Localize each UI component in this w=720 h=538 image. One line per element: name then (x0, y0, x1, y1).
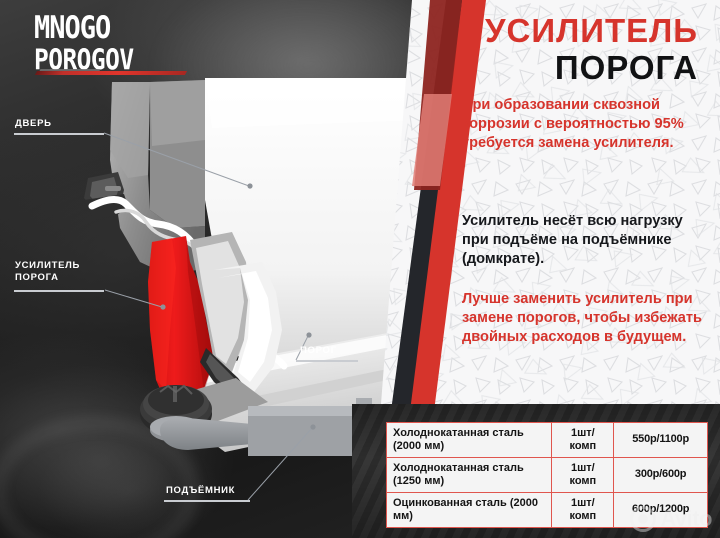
avito-watermark: Avito (630, 506, 712, 532)
callout-reinforcer-line1: УСИЛИТЕЛЬ (15, 260, 80, 271)
paragraph-corrosion: При образовании сквозной коррозии с веро… (462, 96, 708, 153)
callout-reinforcer-rule (14, 290, 104, 292)
paragraph-advice: Лучше заменить усилитель при замене поро… (462, 290, 708, 347)
brand-logo[interactable]: MNOGO POROGOV (34, 14, 194, 69)
table-cell-qty: 1шт/комп (552, 492, 614, 527)
page-title-line1: УСИЛИТЕЛЬ (408, 14, 698, 47)
table-row[interactable]: Холоднокатанная сталь (2000 мм) 1шт/комп… (387, 423, 708, 458)
table-cell-qty: 1шт/комп (552, 457, 614, 492)
table-cell-material: Холоднокатанная сталь (2000 мм) (387, 423, 552, 458)
callout-door-label: ДВЕРЬ (15, 118, 52, 130)
table-cell-price: 300р/600р (614, 457, 708, 492)
poster-root: MNOGO POROGOV УСИЛИТЕЛЬ ПОРОГА При образ… (0, 0, 720, 538)
avito-logo-icon (630, 506, 656, 532)
brand-logo-underline (35, 71, 187, 75)
page-title-line2: ПОРОГА (408, 51, 698, 86)
callout-sill-rule (296, 360, 358, 362)
page-title: УСИЛИТЕЛЬ ПОРОГА (408, 14, 698, 86)
table-cell-price: 550р/1100р (614, 423, 708, 458)
table-cell-qty: 1шт/комп (552, 423, 614, 458)
callout-reinforcer-line2: ПОРОГА (15, 272, 59, 283)
brand-logo-line1: MNOGO (34, 14, 194, 43)
callout-lift-label: ПОДЪЁМНИК (166, 485, 235, 497)
table-row[interactable]: Холоднокатанная сталь (1250 мм) 1шт/комп… (387, 457, 708, 492)
table-cell-material: Оцинкованная сталь (2000 мм) (387, 492, 552, 527)
callout-sill-label: ПОРОГ (300, 345, 337, 357)
brand-logo-underline-accent (39, 69, 100, 71)
callout-reinforcer-label: УСИЛИТЕЛЬ ПОРОГА (15, 260, 80, 284)
callout-lift-rule (164, 500, 250, 502)
table-cell-material: Холоднокатанная сталь (1250 мм) (387, 457, 552, 492)
paragraph-load: Усилитель несёт всю нагрузку при подъёме… (462, 212, 708, 269)
avito-watermark-text: Avito (660, 506, 712, 532)
callout-door-rule (14, 133, 104, 135)
